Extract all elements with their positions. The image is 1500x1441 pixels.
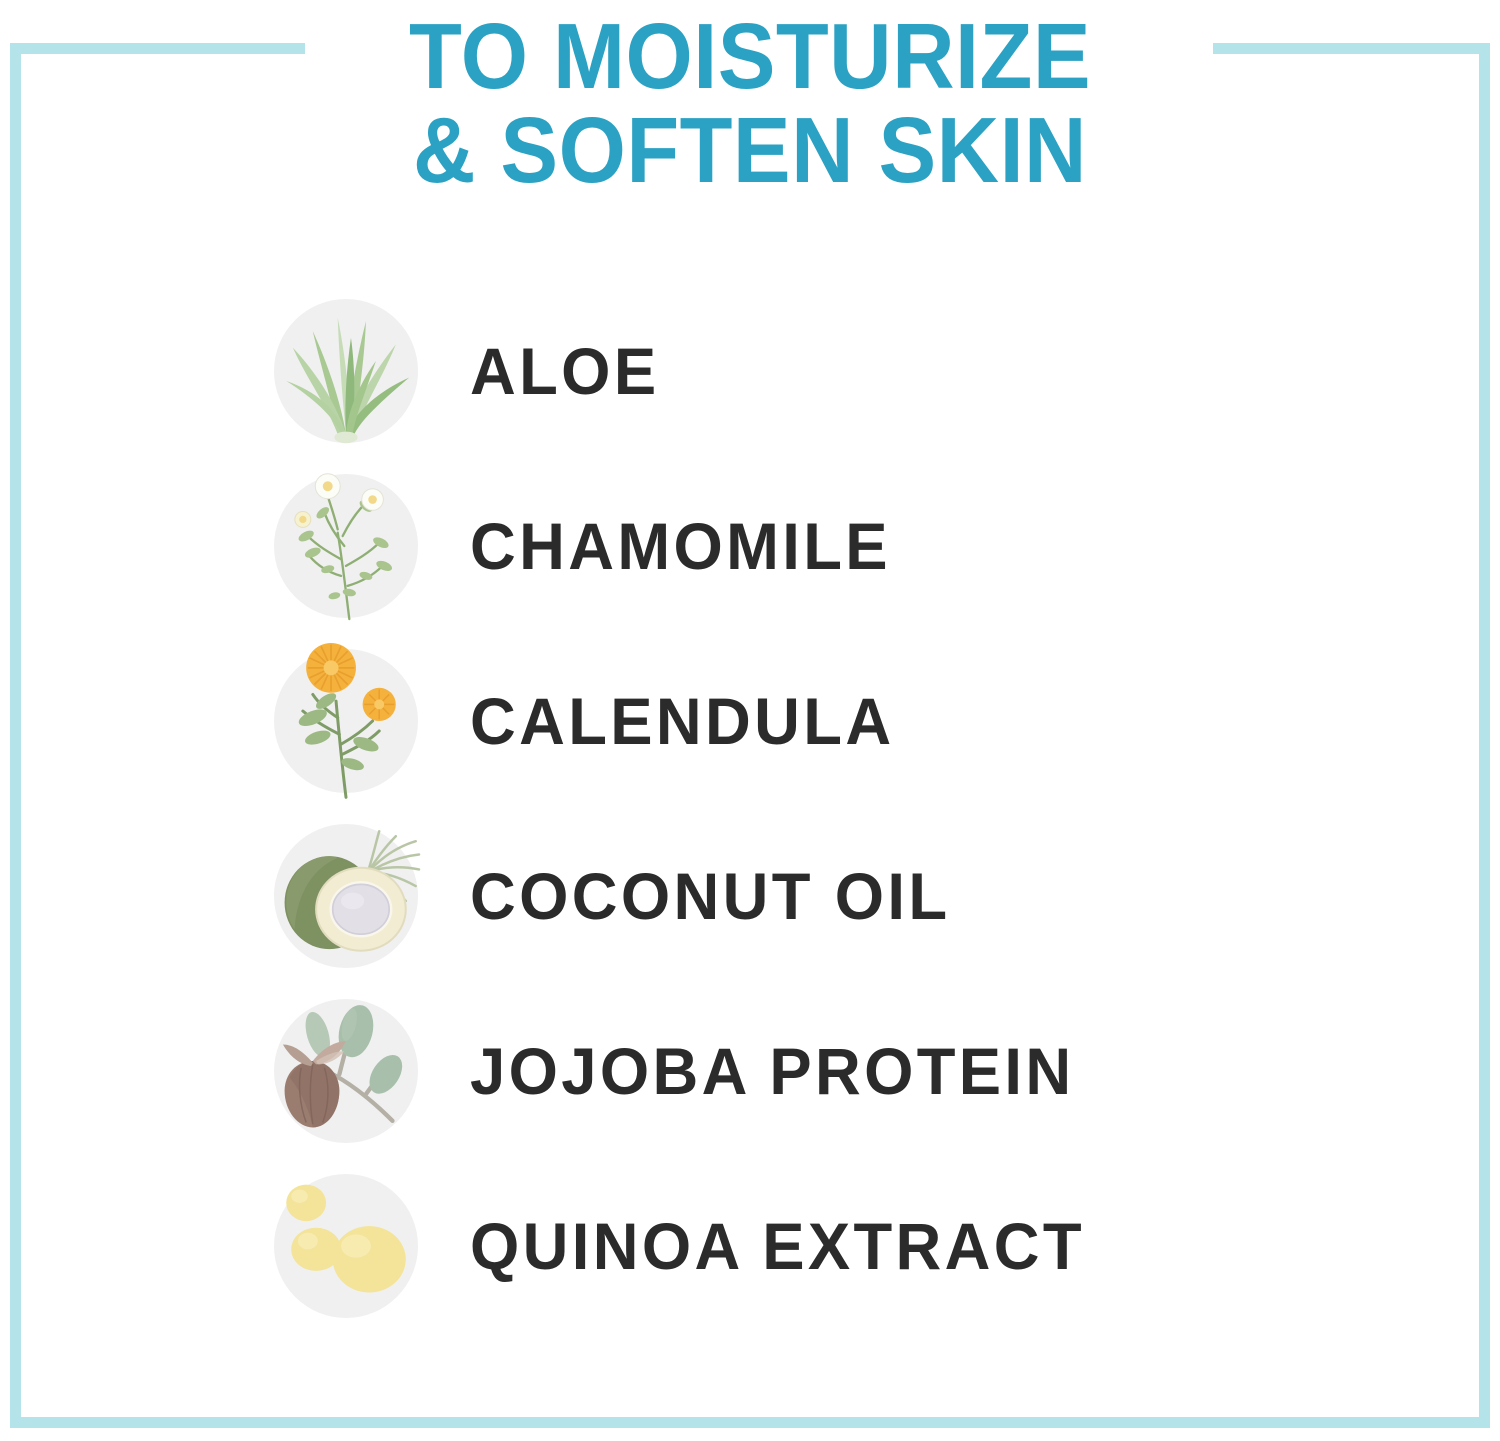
- list-item: CHAMOMILE: [274, 458, 1424, 633]
- chamomile-flower-icon: [274, 474, 418, 618]
- ingredient-list: ALOE: [274, 283, 1424, 1333]
- list-item: QUINOA EXTRACT: [274, 1158, 1424, 1333]
- page-title: TO MOISTURIZE & SOFTEN SKIN: [0, 2, 1500, 195]
- title-line-2: & SOFTEN SKIN: [53, 100, 1448, 194]
- frame-bottom-edge: [10, 1417, 1490, 1428]
- list-item: JOJOBA PROTEIN: [274, 983, 1424, 1158]
- calendula-flower-icon: [274, 649, 418, 793]
- ingredient-label: QUINOA EXTRACT: [470, 1208, 1085, 1284]
- list-item: ALOE: [274, 283, 1424, 458]
- list-item: CALENDULA: [274, 633, 1424, 808]
- frame-left-edge: [10, 43, 21, 1428]
- title-line-1: TO MOISTURIZE: [53, 2, 1448, 100]
- ingredient-label: ALOE: [470, 333, 659, 409]
- aloe-plant-icon: [274, 299, 418, 443]
- infographic-page: TO MOISTURIZE & SOFTEN SKIN: [0, 0, 1500, 1441]
- ingredient-label: COCONUT OIL: [470, 858, 950, 934]
- quinoa-droplets-icon: [274, 1174, 418, 1318]
- jojoba-seed-icon: [274, 999, 418, 1143]
- list-item: COCONUT OIL: [274, 808, 1424, 983]
- frame-right-edge: [1479, 43, 1490, 1428]
- ingredient-label: CHAMOMILE: [470, 508, 891, 584]
- ingredient-label: CALENDULA: [470, 683, 894, 759]
- ingredient-label: JOJOBA PROTEIN: [470, 1033, 1074, 1109]
- coconut-icon: [274, 824, 418, 968]
